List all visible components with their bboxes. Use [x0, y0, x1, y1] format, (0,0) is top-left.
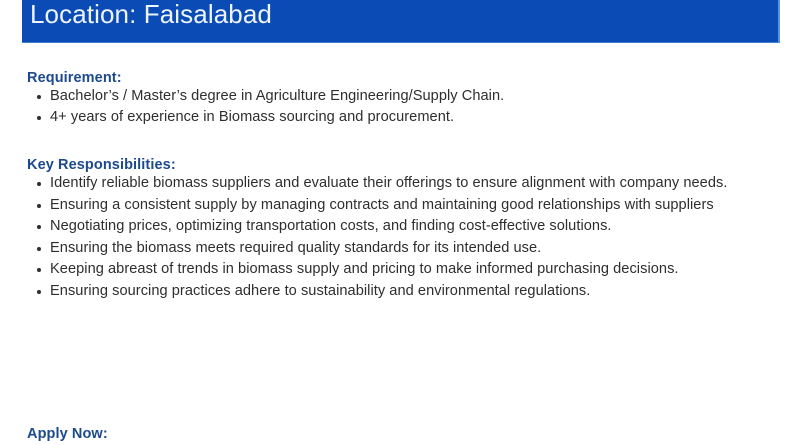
list-item: 4+ years of experience in Biomass sourci…: [0, 108, 800, 128]
list-item: Keeping abreast of trends in biomass sup…: [0, 260, 800, 280]
list-item: Identify reliable biomass suppliers and …: [0, 174, 800, 194]
apply-now-heading: Apply Now:: [0, 425, 800, 443]
list-item: Bachelor’s / Master’s degree in Agricult…: [0, 87, 800, 107]
list-item: Ensuring the biomass meets required qual…: [0, 239, 800, 259]
apply-now-section: Apply Now:: [0, 425, 800, 445]
location-banner: Location: Faisalabad: [22, 0, 780, 43]
requirement-list: Bachelor’s / Master’s degree in Agricult…: [0, 87, 800, 127]
list-item: Ensuring sourcing practices adhere to su…: [0, 282, 800, 302]
list-item: Negotiating prices, optimizing transport…: [0, 217, 800, 237]
responsibilities-heading: Key Responsibilities:: [0, 128, 800, 174]
job-posting-page: Location: Faisalabad Requirement: Bachel…: [0, 0, 800, 445]
posting-body: Requirement: Bachelor’s / Master’s degre…: [0, 43, 800, 303]
location-banner-label: Location: Faisalabad: [22, 0, 272, 29]
requirement-heading: Requirement:: [0, 43, 800, 87]
responsibilities-list: Identify reliable biomass suppliers and …: [0, 174, 800, 301]
list-item: Ensuring a consistent supply by managing…: [0, 196, 800, 216]
